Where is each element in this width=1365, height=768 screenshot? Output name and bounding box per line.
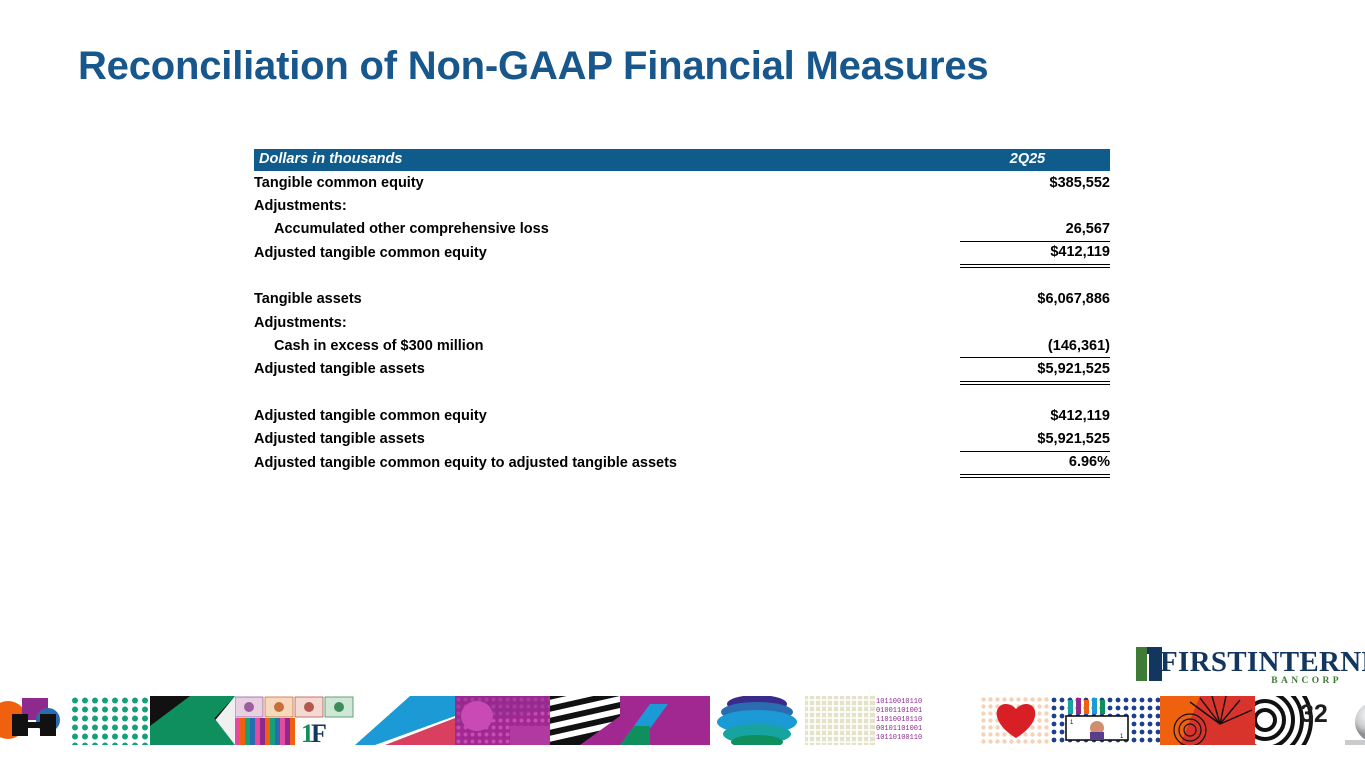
row-value	[960, 194, 1110, 217]
strip-panel-cyan-magenta	[620, 696, 710, 745]
row-value	[960, 311, 1110, 334]
column-header-2q25: 2Q25	[960, 149, 1110, 171]
table-row: Adjusted tangible common equity to adjus…	[254, 451, 1110, 475]
strip-panel-grid-mesh	[805, 696, 875, 745]
strip-panel-binary: 10110010110 01001101001 11010010110 0010…	[875, 696, 980, 745]
svg-text:11010010110: 11010010110	[876, 716, 922, 724]
strip-panel-blue-diagonal	[355, 696, 455, 745]
strip-panel-heart	[980, 696, 1050, 745]
row-value: $412,119	[960, 241, 1110, 265]
decorative-footer-strip: 1 F	[0, 696, 1365, 745]
row-value: 26,567	[960, 217, 1110, 240]
strip-panel-ellipses	[710, 696, 805, 745]
table-row: Adjusted tangible assets$5,921,525	[254, 428, 1110, 451]
slide-canvas: Reconciliation of Non-GAAP Financial Mea…	[0, 0, 1365, 768]
row-label: Adjustments:	[254, 194, 960, 217]
strip-panel-green-dots	[70, 696, 150, 745]
svg-text:10110100110: 10110100110	[876, 734, 922, 742]
svg-text:F: F	[311, 719, 327, 745]
table-row: Tangible common equity$385,552	[254, 171, 1110, 194]
svg-text:00101101001: 00101101001	[876, 725, 922, 733]
row-label: Tangible assets	[254, 288, 960, 311]
row-label: Cash in excess of $300 million	[254, 334, 960, 357]
row-value: $6,067,886	[960, 288, 1110, 311]
table-row: Adjustments:	[254, 194, 1110, 217]
svg-text:01001101001: 01001101001	[876, 707, 922, 715]
table-row: Adjusted tangible common equity$412,119	[254, 405, 1110, 428]
strip-panel-sphere	[1345, 696, 1365, 745]
strip-panel-shapes	[0, 696, 70, 745]
row-label: Adjusted tangible assets	[254, 357, 960, 381]
table-row: Adjusted tangible common equity$412,119	[254, 241, 1110, 265]
logo-word-first: FIRST	[1160, 646, 1247, 678]
row-label: Tangible common equity	[254, 171, 960, 194]
strip-panel-red-burst	[1160, 696, 1255, 745]
row-value: 6.96%	[960, 451, 1110, 475]
page-title: Reconciliation of Non-GAAP Financial Mea…	[78, 44, 988, 89]
table-row: Tangible assets$6,067,886	[254, 288, 1110, 311]
logo-word-second: INTERNET	[1247, 646, 1365, 678]
table-row: Cash in excess of $300 million(146,361)	[254, 334, 1110, 357]
row-label: Adjusted tangible assets	[254, 428, 960, 451]
page-number: 32	[1300, 700, 1328, 729]
svg-text:10110010110: 10110010110	[876, 698, 922, 706]
spacer-cell	[254, 381, 960, 405]
numeral-one-mark-icon	[1136, 647, 1162, 681]
non-gaap-reconciliation-table: Dollars in thousands 2Q25 Tangible commo…	[254, 149, 1110, 475]
row-label: Adjustments:	[254, 311, 960, 334]
spacer-cell	[960, 381, 1110, 405]
table-row: Accumulated other comprehensive loss26,5…	[254, 217, 1110, 240]
logo-wordmark: FIRSTINTERNET	[1160, 646, 1365, 679]
row-label: Adjusted tangible common equity to adjus…	[254, 451, 960, 475]
row-label: Adjusted tangible common equity	[254, 241, 960, 265]
strip-panel-banknote: 1 1	[1050, 696, 1160, 745]
strip-panel-magenta-dots	[455, 696, 550, 745]
row-label: Adjusted tangible common equity	[254, 405, 960, 428]
table-header-row: Dollars in thousands 2Q25	[254, 149, 1110, 171]
row-value: $5,921,525	[960, 428, 1110, 451]
row-value: $5,921,525	[960, 357, 1110, 381]
table-row: Adjusted tangible assets$5,921,525	[254, 357, 1110, 381]
column-header-label: Dollars in thousands	[254, 149, 960, 171]
table-spacer-row	[254, 381, 1110, 405]
table-row: Adjustments:	[254, 311, 1110, 334]
row-value: $412,119	[960, 405, 1110, 428]
row-value: (146,361)	[960, 334, 1110, 357]
table-spacer-row	[254, 264, 1110, 288]
strip-panel-geometric	[150, 696, 235, 745]
spacer-cell	[254, 264, 960, 288]
table-body: Tangible common equity$385,552Adjustment…	[254, 171, 1110, 475]
strip-panel-currency: 1 F	[235, 696, 355, 745]
row-label: Accumulated other comprehensive loss	[254, 217, 960, 240]
spacer-cell	[960, 264, 1110, 288]
row-value: $385,552	[960, 171, 1110, 194]
logo-subtitle: BANCORP	[1271, 676, 1342, 686]
strip-panel-stripes	[550, 696, 620, 745]
company-logo: FIRSTINTERNET BANCORP	[1134, 646, 1346, 688]
